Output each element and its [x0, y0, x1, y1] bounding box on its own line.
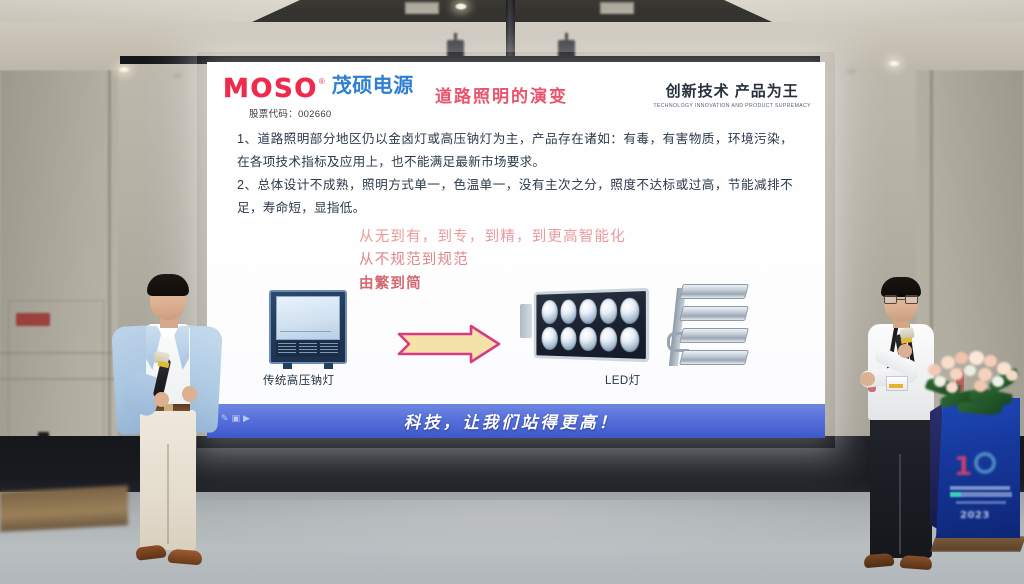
menu-square-icon[interactable]: ▣: [231, 414, 240, 423]
caption-led-lamp: LED灯: [605, 372, 640, 388]
hand-right: [182, 386, 197, 402]
slogan-line-1: 从无到有，到专，到精，到更高智能化: [359, 226, 626, 249]
company-logo: MOSO ® 茂硕电源 股票代码：002660: [223, 76, 414, 120]
led-lens: [621, 298, 640, 324]
next-arrow-icon[interactable]: ▶: [243, 414, 250, 423]
ceiling-soffit-right: [724, 0, 1024, 22]
led-module: [679, 328, 749, 343]
conference-room-photo: MOSO ® 茂硕电源 股票代码：002660 道路照明的演变 创新技术 产品为…: [0, 0, 1024, 584]
led-module: [679, 306, 749, 321]
led-module: [679, 350, 749, 365]
lamp-foot-left: [283, 363, 292, 369]
podium-text-line-1: [950, 486, 1010, 490]
led-lens: [560, 299, 576, 323]
podium-base: [930, 536, 1024, 552]
led-lens: [621, 327, 640, 353]
glasses-icon: [884, 295, 918, 304]
downlight-dim: [172, 72, 184, 79]
podium-ring-graphic: [974, 452, 996, 474]
shoe-right: [900, 555, 933, 570]
downlight-dim: [845, 68, 857, 75]
led-floodlight-image: [529, 284, 651, 366]
wall-seam-horizontal-2: [0, 378, 118, 380]
led-lens: [542, 326, 558, 350]
projection-screen: MOSO ® 茂硕电源 股票代码：002660 道路照明的演变 创新技术 产品为…: [207, 62, 825, 438]
trouser-seam: [167, 444, 169, 544]
traditional-lamp-image: [269, 290, 347, 364]
hair: [881, 277, 921, 297]
led-lens: [560, 326, 576, 350]
slide-title: 道路照明的演变: [435, 82, 568, 107]
caption-traditional-lamp: 传统高压钠灯: [263, 372, 334, 388]
podium-year: 2023: [960, 510, 990, 521]
led-module: [679, 284, 749, 299]
logo-company-name-cn: 茂硕电源: [332, 76, 414, 97]
flower-arrangement: [922, 346, 1024, 422]
lamp-control-panel: [276, 341, 340, 357]
shoe-right: [167, 549, 202, 566]
stock-code-label: 股票代码：002660: [249, 106, 414, 120]
slogan-line-2: 从不规范到规范: [359, 249, 626, 272]
ceiling-vent-right: [600, 2, 634, 14]
slide-header: MOSO ® 茂硕电源 股票代码：002660 道路照明的演变 创新技术 产品为…: [207, 62, 825, 124]
tagline-cn: 创新技术 产品为王: [653, 80, 811, 101]
logo-wordmark: MOSO: [223, 76, 318, 102]
led-lens: [579, 326, 596, 351]
podium: 1 2023: [930, 398, 1024, 558]
downlight: [888, 60, 900, 67]
floor-reflection: [130, 500, 890, 560]
tagline-en: TECHNOLOGY INNOVATION AND PRODUCT SUPREM…: [653, 103, 811, 109]
led-modular-light-image: [667, 280, 753, 372]
podium-numeral: 1: [954, 452, 972, 482]
downlight: [118, 66, 130, 73]
podium-text-line-2: [950, 492, 1012, 497]
shoe-left: [863, 553, 894, 569]
slide-footer-banner: ◀ ✎ ▣ ▶ 科技，让我们站得更高！: [207, 404, 825, 438]
led-housing: [534, 288, 649, 362]
ceiling-vent-left: [405, 2, 439, 14]
hand-left: [860, 372, 875, 386]
footer-slogan: 科技，让我们站得更高！: [207, 409, 825, 433]
header-tagline: 创新技术 产品为王 TECHNOLOGY INNOVATION AND PROD…: [653, 80, 811, 109]
led-lens-grid: [542, 298, 640, 353]
shoe-left: [135, 544, 166, 561]
led-lens: [579, 299, 596, 324]
presentation-slide: MOSO ® 茂硕电源 股票代码：002660 道路照明的演变 创新技术 产品为…: [207, 62, 825, 438]
evolution-arrow: [397, 324, 501, 364]
led-lens: [600, 298, 618, 323]
emergency-exit-sign: [16, 313, 50, 326]
slide-paragraph-2: 2、总体设计不成熟，照明方式单一，色温单一，没有主次之分，照度不达标或过高，节能…: [237, 174, 793, 220]
podium-text-line-3: [956, 501, 1006, 504]
wall-seam-horizontal: [0, 352, 118, 354]
presenter-left: [102, 274, 230, 584]
led-lens: [600, 327, 618, 352]
lamp-foot-right: [324, 363, 333, 369]
ceiling-soffit-left: [0, 0, 300, 22]
trouser-seam: [899, 454, 901, 554]
led-lens: [542, 300, 558, 324]
hair: [147, 274, 189, 296]
hand-right: [898, 344, 912, 358]
slide-paragraph-1: 1、道路照明部分地区仍以金卤灯或高压钠灯为主，产品存在诸如：有毒，有害物质，环境…: [237, 128, 793, 174]
lamp-glass-panel: [276, 296, 340, 340]
led-mounting-bracket: [520, 304, 532, 338]
downlight: [455, 3, 467, 10]
right-arrow-icon: [397, 324, 501, 364]
hand-left: [154, 392, 169, 407]
badge: [886, 376, 908, 391]
trousers: [870, 416, 932, 558]
registered-trademark-icon: ®: [319, 77, 325, 86]
